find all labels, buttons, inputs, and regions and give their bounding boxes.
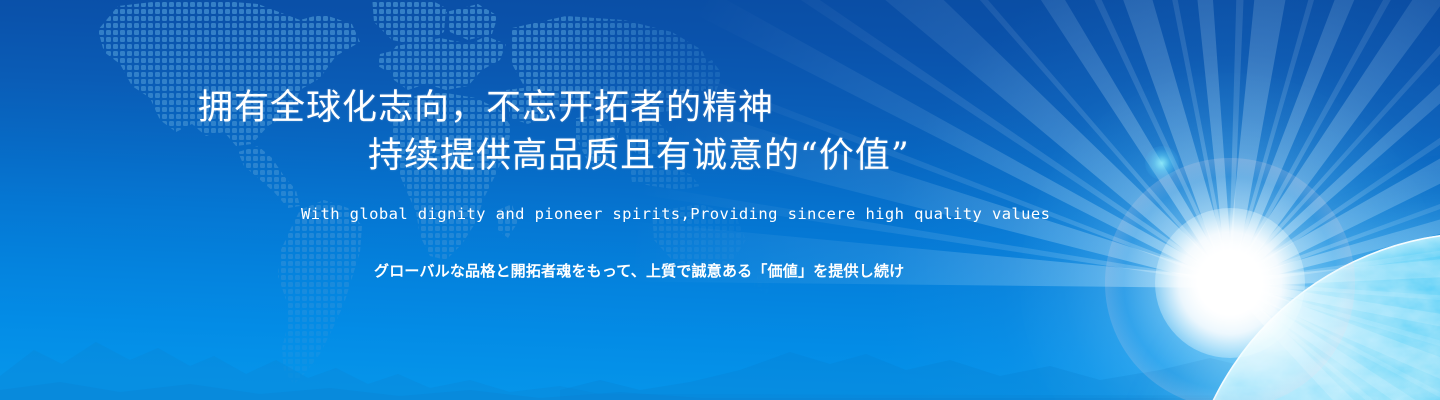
- sun-flare-halo-ring: [1105, 158, 1355, 400]
- banner-subtitle-english: With global dignity and pioneer spirits,…: [301, 205, 1050, 223]
- sun-glow-inner: [1200, 253, 1260, 313]
- banner-headline: 拥有全球化志向，不忘开拓者的精神 持续提供高品质且有诚意的“价值”: [198, 84, 910, 180]
- planet-cloud-bands: [1182, 232, 1440, 400]
- headline-line-2: 持续提供高品质且有诚意的“价值”: [198, 132, 910, 180]
- planet-earth-graphic: [1090, 120, 1440, 400]
- hero-banner: 拥有全球化志向，不忘开拓者的精神 持续提供高品质且有诚意的“价值” With g…: [0, 0, 1440, 400]
- planet-limb-highlight: [1182, 232, 1440, 400]
- banner-subtitle-japanese: グローバルな品格と開拓者魂をもって、上質で誠意ある「価値」を提供し続け: [374, 260, 904, 281]
- planet-surface-texture: [1182, 232, 1440, 400]
- headline-line-1: 拥有全球化志向，不忘开拓者的精神: [198, 88, 774, 128]
- banner-copy: 拥有全球化志向，不忘开拓者的精神 持续提供高品质且有诚意的“价值” With g…: [0, 0, 1130, 400]
- sun-glow-mid: [1155, 208, 1305, 358]
- planet-sphere: [1182, 232, 1440, 400]
- lens-flare-dot-graphic: [1145, 146, 1179, 180]
